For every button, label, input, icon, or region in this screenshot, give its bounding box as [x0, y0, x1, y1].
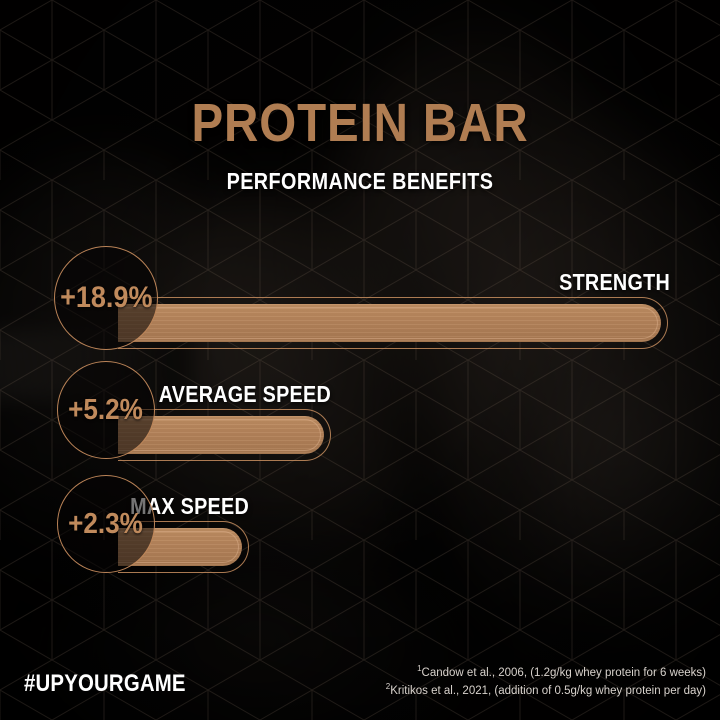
- infographic-canvas: PROTEIN BAR PERFORMANCE BENEFITS STRENGT…: [0, 0, 720, 720]
- bar-value-badge: +18.9%: [54, 246, 158, 350]
- bar-fill: [118, 304, 661, 342]
- bar-value-text: +2.3%: [69, 510, 144, 539]
- references-block: 1Candow et al., 2006, (1.2g/kg whey prot…: [386, 663, 706, 699]
- bar-value-text: +18.9%: [60, 283, 152, 313]
- bar-texture: [118, 304, 661, 342]
- bar-track: [118, 297, 668, 349]
- page-subtitle: PERFORMANCE BENEFITS: [50, 170, 669, 193]
- page-title: PROTEIN BAR: [43, 96, 677, 150]
- bar-category-label: STRENGTH: [94, 271, 670, 294]
- reference-text: Kritikos et al., 2021, (addition of 0.5g…: [390, 685, 706, 697]
- bar-value-text: +5.2%: [69, 396, 144, 425]
- reference-line: 2Kritikos et al., 2021, (addition of 0.5…: [386, 681, 706, 699]
- reference-line: 1Candow et al., 2006, (1.2g/kg whey prot…: [386, 663, 706, 681]
- bar-value-badge: +2.3%: [57, 475, 155, 573]
- reference-text: Candow et al., 2006, (1.2g/kg whey prote…: [422, 667, 706, 679]
- bar-value-badge: +5.2%: [57, 361, 155, 459]
- hashtag-label: #UPYOURGAME: [24, 672, 186, 696]
